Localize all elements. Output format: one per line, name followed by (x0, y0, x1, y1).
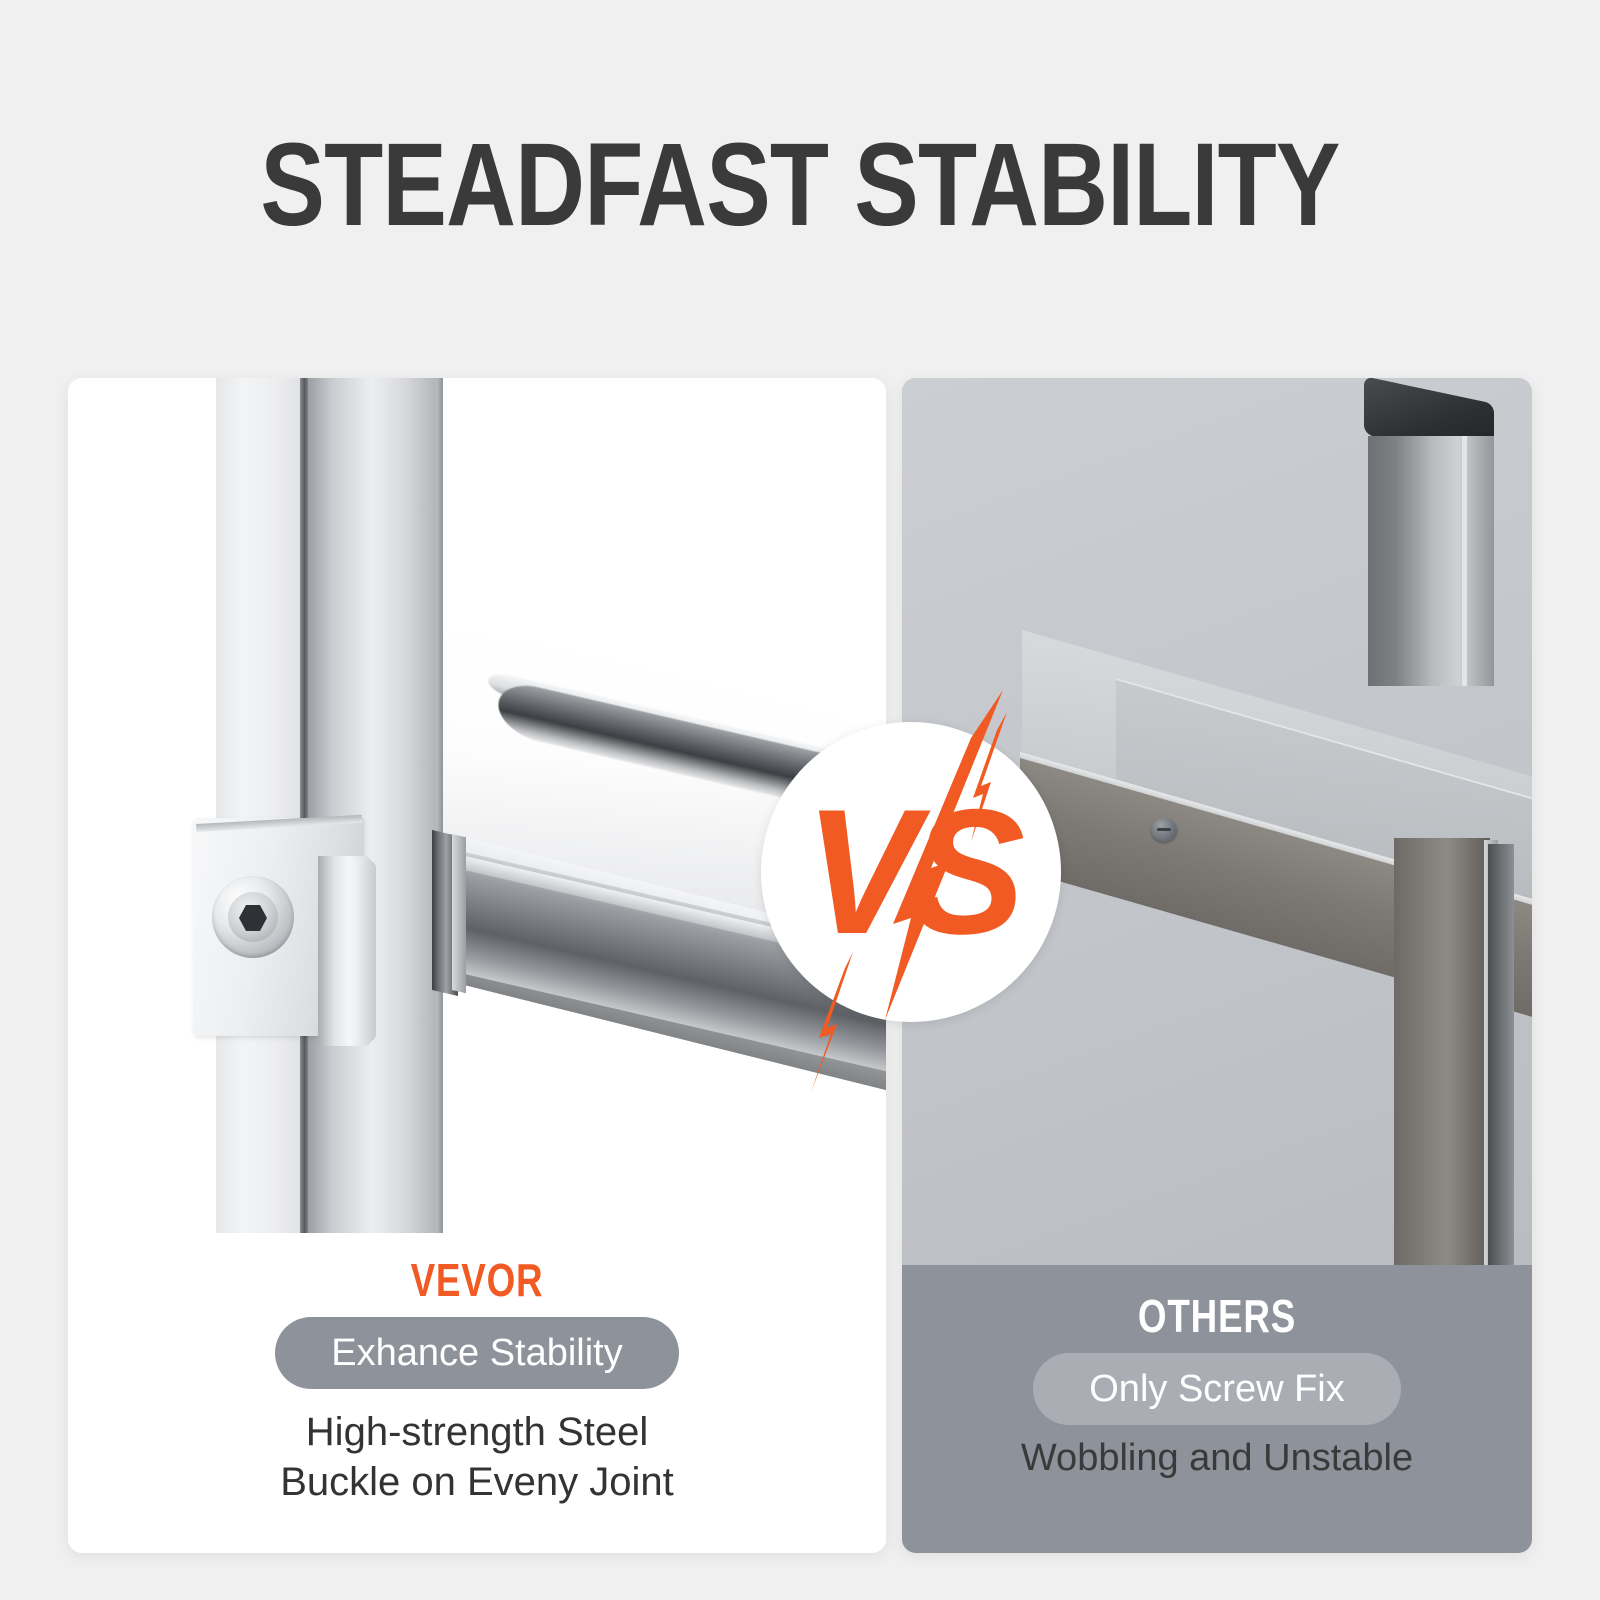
others-post-edge (1462, 436, 1467, 686)
others-feature-pill: Only Screw Fix (1033, 1353, 1400, 1425)
steel-post-right-edge (436, 378, 443, 1258)
others-leg-shadow (1488, 844, 1514, 1265)
others-brand-label: OTHERS (965, 1291, 1469, 1341)
versus-badge: VS (735, 690, 1075, 1120)
vevor-caption-block: VEVOR Exhance Stability High-strength St… (68, 1233, 886, 1553)
versus-label: VS (767, 722, 1055, 1022)
others-post (1368, 436, 1494, 686)
buckle-lip-inner (354, 860, 376, 1042)
vevor-feature-pill: Exhance Stability (275, 1317, 679, 1389)
screw-icon (1151, 818, 1177, 842)
joint-plate-highlight (452, 834, 466, 993)
others-table-leg (1394, 838, 1490, 1265)
vevor-description-line-1: High-strength Steel (68, 1407, 886, 1457)
others-description-line-1: Wobbling and Unstable (902, 1435, 1532, 1481)
vevor-description-line-2: Buckle on Eveny Joint (68, 1457, 886, 1507)
vevor-brand-label: VEVOR (150, 1255, 804, 1305)
page-title: STEADFAST STABILITY (144, 126, 1456, 244)
others-caption-block: OTHERS Only Screw Fix Wobbling and Unsta… (902, 1265, 1532, 1553)
